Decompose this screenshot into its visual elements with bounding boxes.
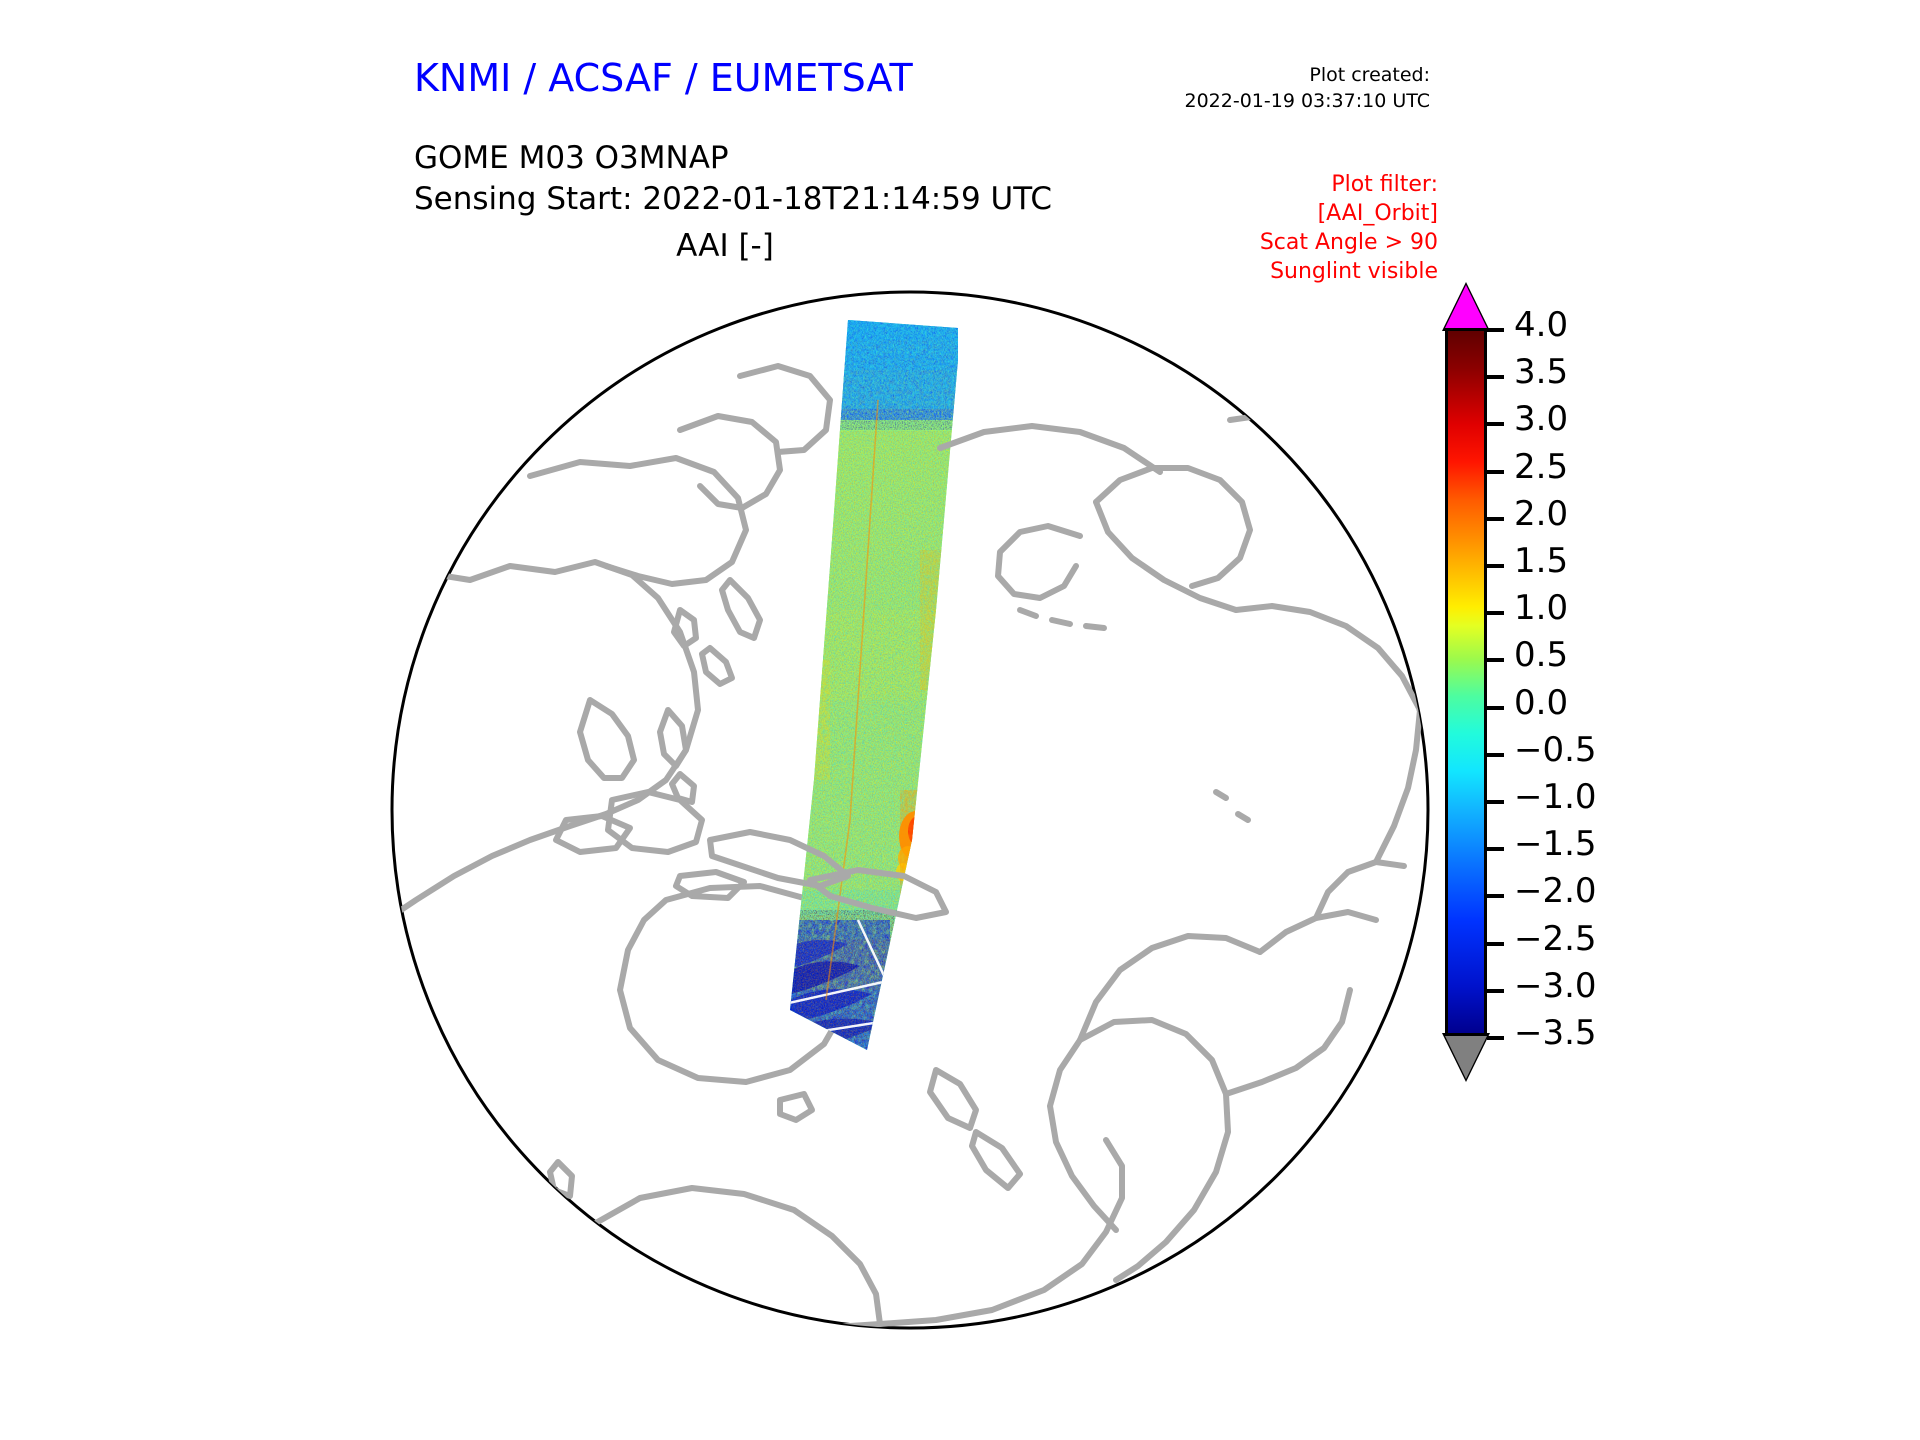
plot-created-label: Plot created: (1185, 62, 1431, 88)
colorbar-tick (1487, 611, 1504, 615)
colorbar-tick-label: 3.0 (1514, 399, 1568, 439)
colorbar-tick-label: 2.5 (1514, 447, 1568, 487)
plot-filter-label: Plot filter: (1260, 170, 1438, 199)
colorbar-tick (1487, 706, 1504, 710)
plot-canvas: KNMI / ACSAF / EUMETSAT GOME M03 O3MNAP … (0, 0, 1920, 1440)
colorbar-tick-label: 3.5 (1514, 352, 1568, 392)
colorbar-tick-label: 4.0 (1514, 305, 1568, 345)
colorbar-tick-label: −1.0 (1514, 777, 1597, 817)
colorbar-tick (1487, 847, 1504, 851)
colorbar-tick (1487, 942, 1504, 946)
colorbar-tick (1487, 375, 1504, 379)
colorbar-over-arrow (1445, 285, 1487, 328)
colorbar-tick-label: −0.5 (1514, 730, 1597, 770)
product-info: GOME M03 O3MNAP Sensing Start: 2022-01-1… (414, 138, 1052, 220)
colorbar-gradient (1445, 328, 1487, 1036)
colorbar: 4.03.53.02.52.01.51.00.50.0−0.5−1.0−1.5−… (1440, 285, 1740, 1075)
colorbar-tick (1487, 658, 1504, 662)
colorbar-tick (1487, 564, 1504, 568)
plot-created-timestamp: 2022-01-19 03:37:10 UTC (1185, 88, 1431, 114)
plot-filter-block: Plot filter: [AAI_Orbit] Scat Angle > 90… (1260, 170, 1438, 286)
colorbar-tick (1487, 470, 1504, 474)
colorbar-tick (1487, 1036, 1504, 1040)
colorbar-tick-label: −2.0 (1514, 871, 1597, 911)
colorbar-tick (1487, 989, 1504, 993)
colorbar-tick (1487, 800, 1504, 804)
colorbar-tick-label: 1.0 (1514, 588, 1568, 628)
colorbar-tick-label: −1.5 (1514, 824, 1597, 864)
colorbar-under-arrow (1445, 1036, 1487, 1079)
globe-map (380, 280, 1440, 1340)
colorbar-tick (1487, 894, 1504, 898)
sensing-start: Sensing Start: 2022-01-18T21:14:59 UTC (414, 179, 1052, 220)
product-name: GOME M03 O3MNAP (414, 138, 1052, 179)
colorbar-tick-label: −3.5 (1514, 1013, 1597, 1053)
colorbar-tick-label: 2.0 (1514, 494, 1568, 534)
colorbar-tick (1487, 422, 1504, 426)
colorbar-tick-label: 0.0 (1514, 683, 1568, 723)
colorbar-tick-label: −3.0 (1514, 966, 1597, 1006)
plot-filter-scat-angle: Scat Angle > 90 (1260, 228, 1438, 257)
plot-filter-orbit: [AAI_Orbit] (1260, 199, 1438, 228)
plot-created-block: Plot created: 2022-01-19 03:37:10 UTC (1185, 62, 1431, 114)
colorbar-tick (1487, 753, 1504, 757)
colorbar-tick-label: 0.5 (1514, 635, 1568, 675)
page-title: AAI [-] (0, 228, 1450, 264)
colorbar-tick-label: 1.5 (1514, 541, 1568, 581)
colorbar-tick-label: −2.5 (1514, 919, 1597, 959)
map-svg (380, 280, 1440, 1340)
organisation-title: KNMI / ACSAF / EUMETSAT (414, 56, 913, 100)
colorbar-tick (1487, 517, 1504, 521)
colorbar-tick (1487, 328, 1504, 332)
